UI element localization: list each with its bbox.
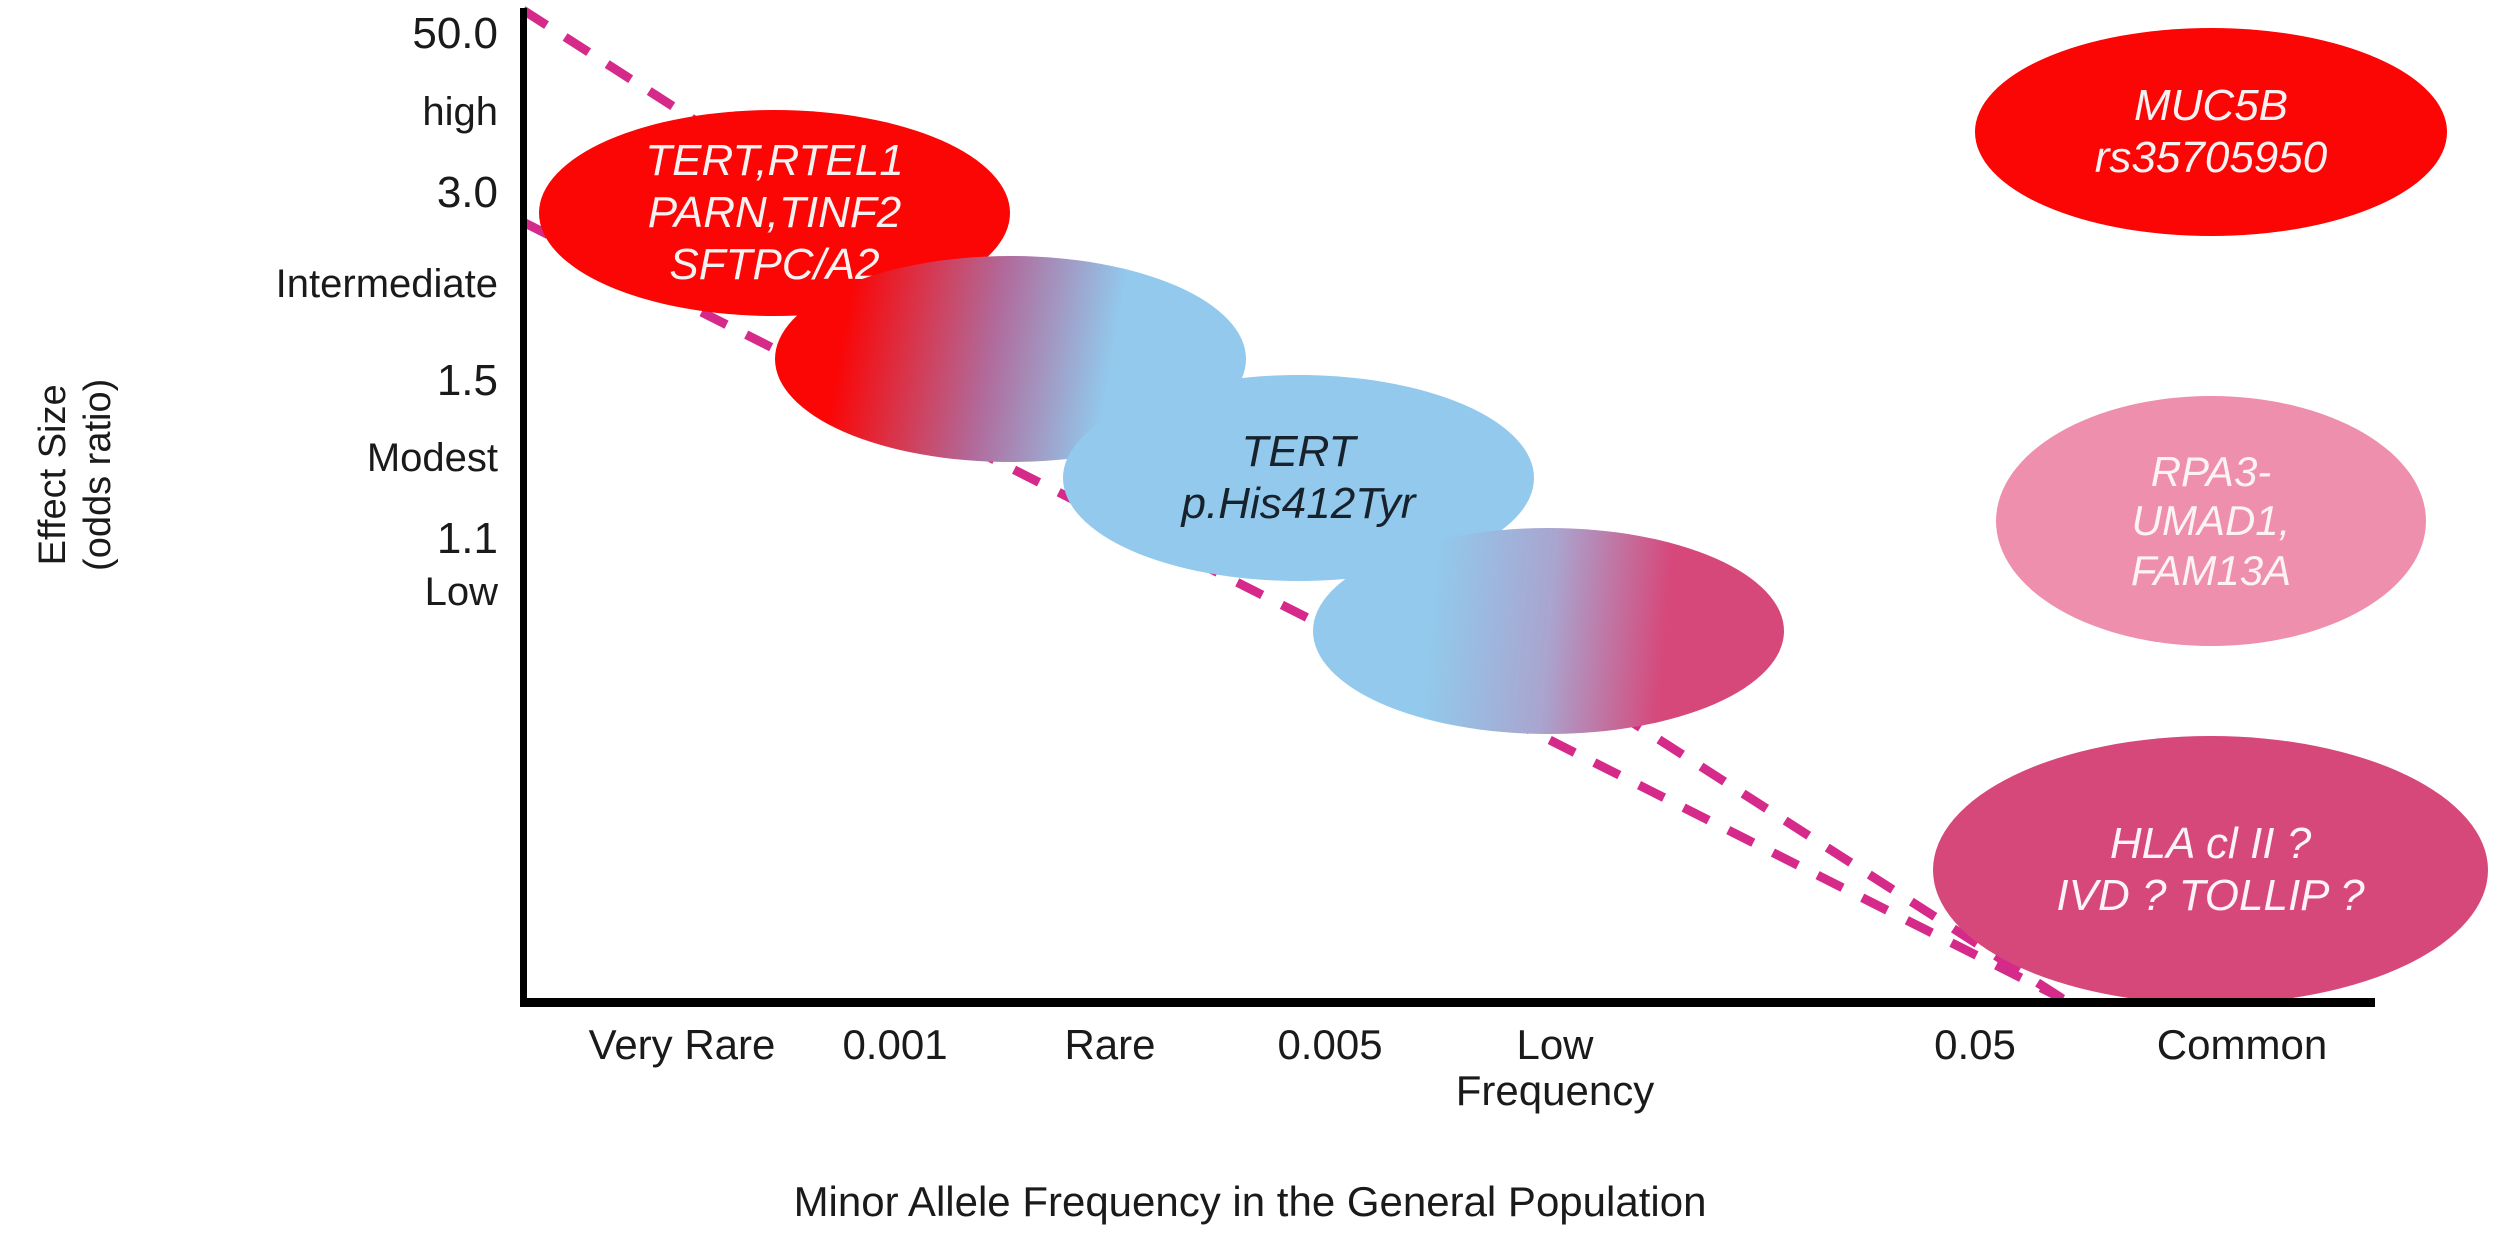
y-axis-line bbox=[520, 8, 527, 1005]
bubble-label-line: PARN,TINF2 bbox=[547, 187, 1002, 239]
x-tick-label-line2: Frequency bbox=[1456, 1068, 1654, 1114]
bubble-label-line: p.His412Tyr bbox=[1071, 478, 1526, 530]
bubble-label-line: HLA cl II ? bbox=[1941, 818, 2480, 870]
y-tick-label: Intermediate bbox=[0, 264, 498, 304]
bubble-label-line: FAM13A bbox=[2004, 546, 2418, 596]
bubble-label: TERTp.His412Tyr bbox=[1063, 426, 1534, 530]
x-tick-rare: Rare bbox=[1064, 1022, 1155, 1068]
bubble-label-line: TERT bbox=[1071, 426, 1526, 478]
x-tick-label: Rare bbox=[1064, 1021, 1155, 1068]
bubble-label: MUC5Brs35705950 bbox=[1975, 80, 2447, 184]
y-tick-label: 50.0 bbox=[0, 12, 498, 56]
bubble-rpa3-umad1-fam13a: RPA3-UMAD1,FAM13A bbox=[1996, 396, 2426, 646]
bubble-label-line: RPA3- bbox=[2004, 447, 2418, 497]
x-tick-label: 0.05 bbox=[1934, 1021, 2016, 1068]
x-tick-low: LowFrequency bbox=[1456, 1022, 1654, 1114]
y-axis-title-line2: (odds ratio) bbox=[76, 325, 121, 625]
bubble-label: HLA cl II ?IVD ? TOLLIP ? bbox=[1933, 818, 2488, 922]
bubble-label-line: TERT,RTEL1 bbox=[547, 135, 1002, 187]
x-tick-0-005: 0.005 bbox=[1277, 1022, 1382, 1068]
x-tick-label: Very Rare bbox=[589, 1021, 776, 1068]
bubble-label: RPA3-UMAD1,FAM13A bbox=[1996, 447, 2426, 596]
bubble-lowfreq-transition-blue-crimson bbox=[1313, 528, 1784, 734]
bubble-label-line: UMAD1, bbox=[2004, 496, 2418, 546]
x-tick-label: 0.005 bbox=[1277, 1021, 1382, 1068]
bubble-label-line: rs35705950 bbox=[1983, 132, 2439, 184]
bubble-label-line: MUC5B bbox=[1983, 80, 2439, 132]
y-tick-label: 3.0 bbox=[0, 171, 498, 215]
y-tick-label: high bbox=[0, 92, 498, 132]
x-tick-label: Low bbox=[1516, 1021, 1593, 1068]
x-tick-label: Common bbox=[2157, 1021, 2327, 1068]
x-tick-0-001: 0.001 bbox=[842, 1022, 947, 1068]
x-tick-very-rare: Very Rare bbox=[589, 1022, 776, 1068]
x-axis-line bbox=[520, 998, 2375, 1007]
x-tick-label: 0.001 bbox=[842, 1021, 947, 1068]
y-axis-title-line1: Effect Size bbox=[32, 384, 74, 565]
bubble-label-line: IVD ? TOLLIP ? bbox=[1941, 870, 2480, 922]
figure-root: TERT,RTEL1PARN,TINF2SFTPC/A2TERTp.His412… bbox=[0, 0, 2500, 1250]
x-axis-title: Minor Allele Frequency in the General Po… bbox=[0, 1178, 2500, 1226]
bubble-muc5b-rs35705950: MUC5Brs35705950 bbox=[1975, 28, 2447, 236]
bubble-hla-ivd-tollip: HLA cl II ?IVD ? TOLLIP ? bbox=[1933, 736, 2488, 1004]
x-tick-0-05: 0.05 bbox=[1934, 1022, 2016, 1068]
x-tick-common: Common bbox=[2157, 1022, 2327, 1068]
y-axis-title: Effect Size (odds ratio) bbox=[31, 325, 121, 625]
lower-trend-line bbox=[523, 222, 2063, 999]
